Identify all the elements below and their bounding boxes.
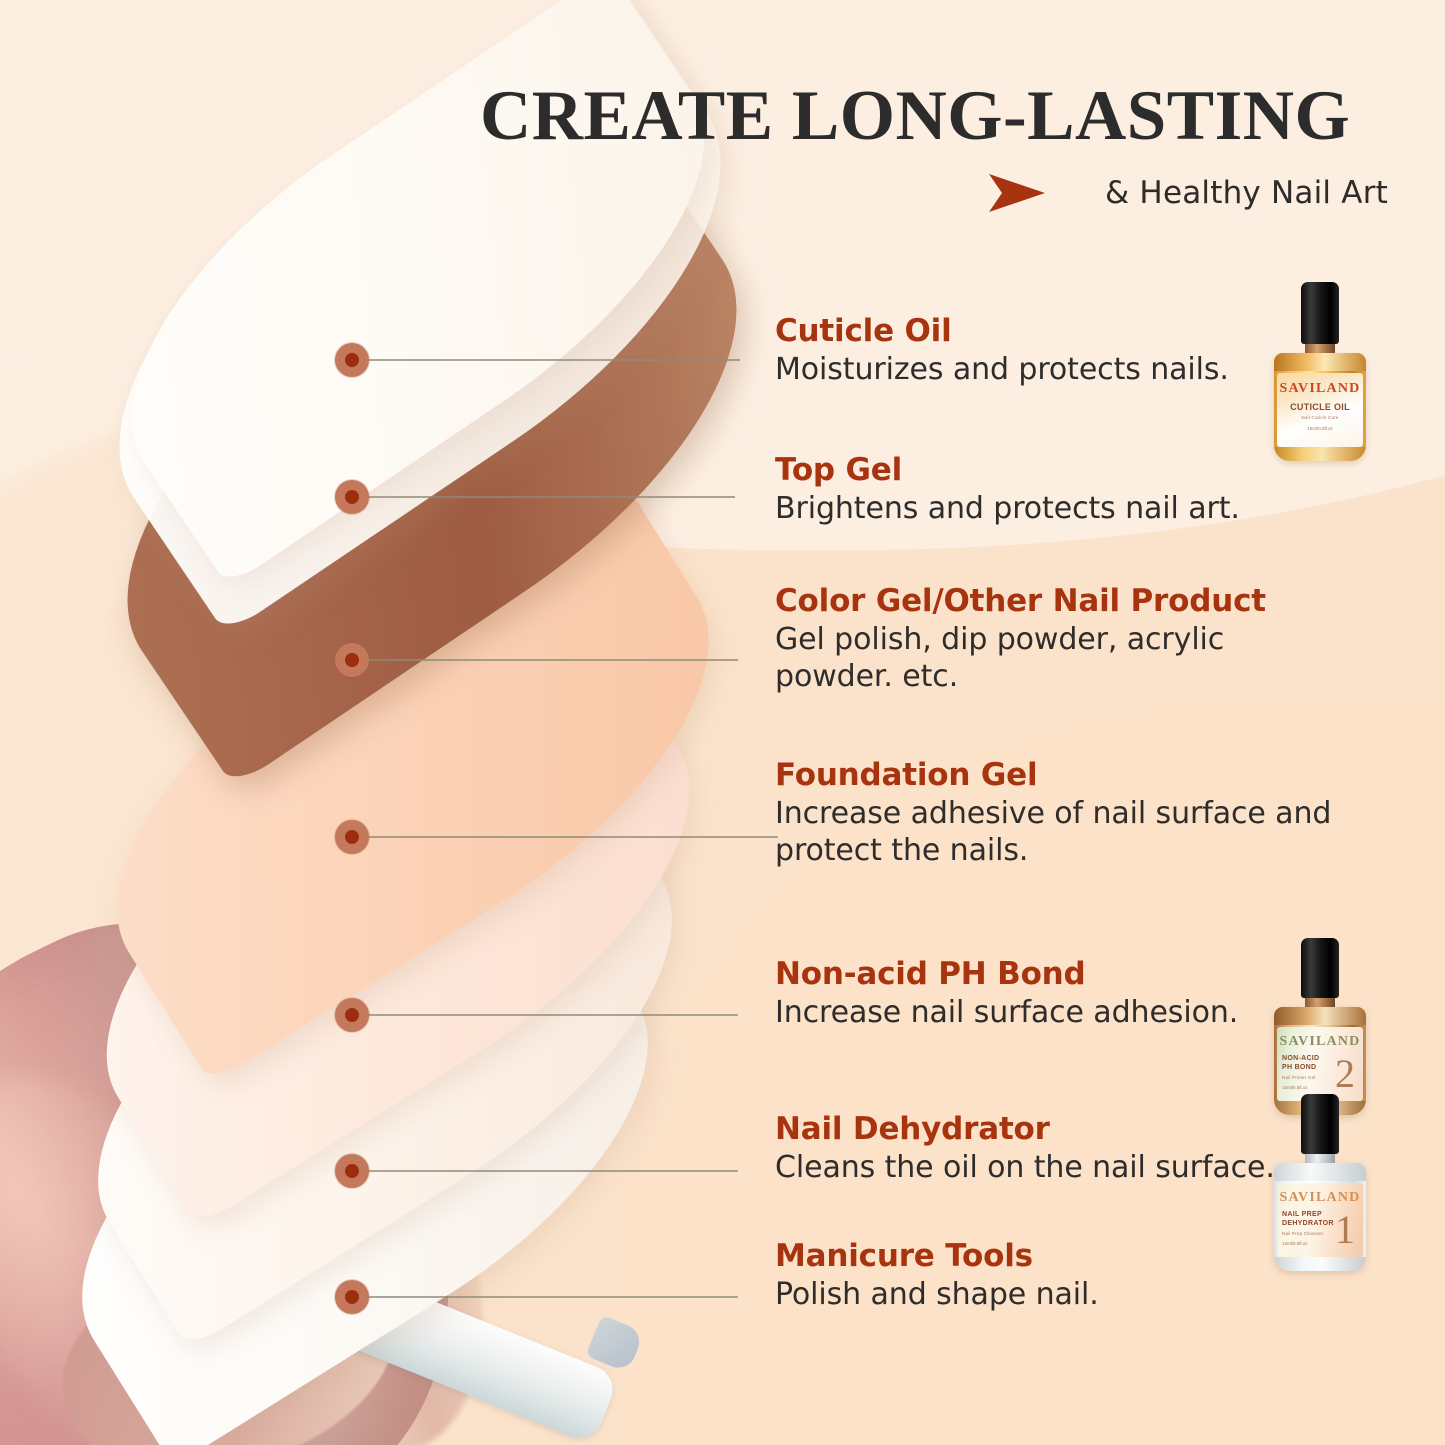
bottle-brand-cuticle-oil: SAVILAND xyxy=(1280,382,1361,396)
bottle-neck-cuticle-oil xyxy=(1305,344,1335,353)
item-heading-color-gel: Color Gel/Other Nail Product xyxy=(775,584,1335,618)
item-heading-nail-dehydrator: Nail Dehydrator xyxy=(775,1112,1335,1146)
bottle-brand-ph-bond: SAVILAND xyxy=(1280,1035,1361,1049)
bottle-label-lines-nail-dehydrator: NAIL PREP DEHYDRATOR Nail Prep Cleanser … xyxy=(1277,1211,1363,1246)
connector-line-foundation-gel xyxy=(360,836,778,838)
bottle-volume-nail-dehydrator: 15ml/0.5fl.oz xyxy=(1282,1241,1325,1246)
bottle-label-ph-bond: SAVILAND NON-ACID PH BOND Nail Primer Ge… xyxy=(1277,1027,1363,1101)
bottle-product-name-ph-bond: NON-ACID PH BOND xyxy=(1282,1055,1325,1073)
bottle-sub-text-ph-bond: Nail Primer Gel xyxy=(1282,1075,1325,1081)
subtitle-row: & Healthy Nail Art xyxy=(985,170,1388,216)
connector-dot-ph-bond xyxy=(335,998,369,1032)
connector-dot-manicure-tools xyxy=(335,1280,369,1314)
item-description-foundation-gel: Increase adhesive of nail surface and pr… xyxy=(775,796,1335,869)
connector-dot-foundation-gel xyxy=(335,820,369,854)
bottle-label-cuticle-oil: SAVILAND CUTICLE OIL Nail Cuticle Care 1… xyxy=(1277,373,1363,447)
connector-dot-top-gel xyxy=(335,480,369,514)
bottle-shoulder-ph-bond xyxy=(1274,1007,1366,1025)
item-heading-manicure-tools: Manicure Tools xyxy=(775,1239,1335,1273)
bottle-product-name-nail-dehydrator: NAIL PREP DEHYDRATOR xyxy=(1282,1211,1325,1229)
bottle-shoulder-cuticle-oil xyxy=(1274,353,1366,371)
item-top-gel: Top Gel Brightens and protects nail art. xyxy=(775,453,1295,528)
bottle-sub-text-nail-dehydrator: Nail Prep Cleanser xyxy=(1282,1231,1325,1237)
bottle-neck-ph-bond xyxy=(1305,998,1335,1007)
play-arrow-icon xyxy=(985,170,1049,216)
product-bottle-cuticle-oil: SAVILAND CUTICLE OIL Nail Cuticle Care 1… xyxy=(1272,282,1368,461)
item-nail-dehydrator: Nail Dehydrator Cleans the oil on the na… xyxy=(775,1112,1335,1187)
bottle-label-lines-ph-bond: NON-ACID PH BOND Nail Primer Gel 15ml/0.… xyxy=(1277,1055,1363,1090)
product-bottle-nail-dehydrator: SAVILAND NAIL PREP DEHYDRATOR Nail Prep … xyxy=(1272,1094,1368,1271)
bottle-volume-cuticle-oil: 15ml/0.5fl.oz xyxy=(1282,426,1358,431)
connector-dot-cuticle-oil xyxy=(335,343,369,377)
item-ph-bond: Non-acid PH Bond Increase nail surface a… xyxy=(775,957,1335,1032)
bottle-base-nail-dehydrator xyxy=(1274,1257,1366,1271)
connector-line-cuticle-oil xyxy=(360,359,740,361)
bottle-label-nail-dehydrator: SAVILAND NAIL PREP DEHYDRATOR Nail Prep … xyxy=(1277,1183,1363,1257)
connector-dot-nail-dehydrator xyxy=(335,1154,369,1188)
bottle-cap-ph-bond xyxy=(1301,938,1339,998)
item-color-gel: Color Gel/Other Nail Product Gel polish,… xyxy=(775,584,1335,695)
bottle-product-name-cuticle-oil: CUTICLE OIL xyxy=(1282,402,1358,413)
bottle-base-cuticle-oil xyxy=(1274,447,1366,461)
infographic-canvas: CREATE LONG-LASTING & Healthy Nail Art C… xyxy=(0,0,1445,1445)
connector-line-color-gel xyxy=(360,659,738,661)
item-description-top-gel: Brightens and protects nail art. xyxy=(775,491,1295,528)
bottle-cap-nail-dehydrator xyxy=(1301,1094,1339,1154)
bottle-label-lines-cuticle-oil: CUTICLE OIL Nail Cuticle Care 15ml/0.5fl… xyxy=(1277,402,1363,431)
connector-line-ph-bond xyxy=(360,1014,738,1016)
bottle-neck-nail-dehydrator xyxy=(1305,1154,1335,1163)
item-description-color-gel: Gel polish, dip powder, acrylic powder. … xyxy=(775,622,1335,695)
bottle-brand-nail-dehydrator: SAVILAND xyxy=(1280,1191,1361,1205)
bottle-number-ph-bond: 2 xyxy=(1335,1054,1355,1094)
page-subtitle: & Healthy Nail Art xyxy=(1105,175,1388,211)
bottle-body-nail-dehydrator: SAVILAND NAIL PREP DEHYDRATOR Nail Prep … xyxy=(1274,1163,1366,1271)
item-description-cuticle-oil: Moisturizes and protects nails. xyxy=(775,352,1295,389)
item-manicure-tools: Manicure Tools Polish and shape nail. xyxy=(775,1239,1335,1314)
connector-line-manicure-tools xyxy=(360,1296,738,1298)
item-heading-ph-bond: Non-acid PH Bond xyxy=(775,957,1335,991)
product-bottle-ph-bond: SAVILAND NON-ACID PH BOND Nail Primer Ge… xyxy=(1272,938,1368,1115)
item-cuticle-oil: Cuticle Oil Moisturizes and protects nai… xyxy=(775,314,1295,389)
bottle-cap-cuticle-oil xyxy=(1301,282,1339,344)
page-title: CREATE LONG-LASTING xyxy=(480,76,1410,157)
item-description-manicure-tools: Polish and shape nail. xyxy=(775,1277,1335,1314)
connector-line-nail-dehydrator xyxy=(360,1170,738,1172)
bottle-sub-text-cuticle-oil: Nail Cuticle Care xyxy=(1282,415,1358,421)
item-foundation-gel: Foundation Gel Increase adhesive of nail… xyxy=(775,758,1335,869)
bottle-number-nail-dehydrator: 1 xyxy=(1335,1210,1355,1250)
item-description-nail-dehydrator: Cleans the oil on the nail surface. xyxy=(775,1150,1335,1187)
item-heading-cuticle-oil: Cuticle Oil xyxy=(775,314,1295,348)
item-heading-top-gel: Top Gel xyxy=(775,453,1295,487)
bottle-shoulder-nail-dehydrator xyxy=(1274,1163,1366,1181)
bottle-body-cuticle-oil: SAVILAND CUTICLE OIL Nail Cuticle Care 1… xyxy=(1274,353,1366,461)
connector-line-top-gel xyxy=(360,496,735,498)
bottle-volume-ph-bond: 15ml/0.5fl.oz xyxy=(1282,1085,1325,1090)
connector-dot-color-gel xyxy=(335,643,369,677)
item-heading-foundation-gel: Foundation Gel xyxy=(775,758,1335,792)
item-description-ph-bond: Increase nail surface adhesion. xyxy=(775,995,1335,1032)
